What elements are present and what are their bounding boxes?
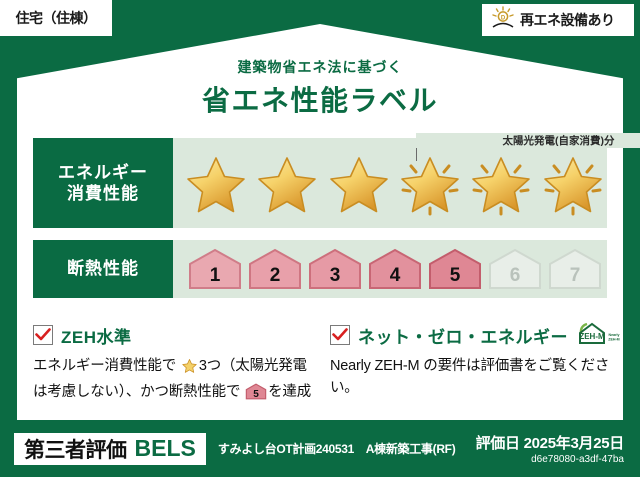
zeh-standard-block: ZEH水準 エネルギー消費性能で 3つ（太陽光発電は考慮しない）、かつ断熱性能で… — [33, 322, 318, 408]
bels-jp-label: 第三者評価 — [24, 434, 127, 464]
evaluation-date-value: 2025年3月25日 — [524, 435, 624, 452]
svg-text:D: D — [501, 15, 506, 21]
bels-en-label: BELS — [135, 435, 196, 462]
sun-renewable-icon: D — [490, 6, 516, 35]
energy-label-card: 住宅（住棟） D 再エネ設備あり 建築物省エネ法に基づく 省エネ性能ラベル — [0, 0, 640, 477]
zeh-body-part3: を達成 — [268, 384, 311, 400]
insulation-performance-row: 断熱性能 1 2 — [33, 240, 607, 298]
star-icon — [252, 148, 321, 218]
insulation-badges-area: 1 2 3 4 — [173, 240, 607, 298]
insulation-label-text: 断熱性能 — [67, 258, 139, 279]
checkbox-checked-icon — [33, 325, 53, 345]
insulation-performance-label: 断熱性能 — [33, 240, 173, 298]
zeh-body-part1: エネルギー消費性能で — [33, 358, 176, 374]
evaluation-date: 評価日 2025年3月25日 — [476, 432, 624, 453]
star-icon-solar — [395, 148, 464, 218]
star-icon — [181, 148, 250, 218]
insulation-badge-number: 7 — [570, 265, 581, 291]
insulation-badge-6: 6 — [487, 247, 543, 291]
insulation-badge-number: 2 — [270, 265, 281, 291]
energy-label-line1: エネルギー — [58, 162, 148, 183]
evaluation-date-block: 評価日 2025年3月25日 d6e78080-a3df-47ba — [476, 432, 624, 465]
insulation-badge-number: 3 — [330, 265, 341, 291]
svg-text:ZEH-M: ZEH-M — [608, 337, 619, 341]
energy-performance-row: エネルギー 消費性能 太陽光発電(自家消費)分 — [33, 138, 607, 228]
renewable-equipment-label: 再エネ設備あり — [520, 10, 615, 30]
housing-type-label: 住宅（住棟） — [16, 8, 97, 28]
checkbox-checked-icon — [330, 325, 350, 345]
energy-label-line2: 消費性能 — [67, 183, 139, 204]
insulation-badge-2: 2 — [247, 247, 303, 291]
insulation-badge-4: 4 — [367, 247, 423, 291]
zeh-m-logo-icon: ZEH-M Nearly ZEH-M — [576, 320, 624, 351]
insulation-badge-1: 1 — [187, 247, 243, 291]
renewable-equipment-tag: D 再エネ設備あり — [482, 4, 634, 36]
net-zero-energy-block: ネット・ゼロ・エネルギー ZEH-M Nearly ZEH-M Nearly Z… — [330, 322, 615, 400]
svg-text:ZEH-M: ZEH-M — [579, 332, 605, 341]
footer-bar: 第三者評価 BELS すみよし台OT計画240531 A棟新築工事(RF) 評価… — [0, 420, 640, 477]
bels-badge: 第三者評価 BELS — [14, 433, 206, 465]
net-zero-energy-header: ネット・ゼロ・エネルギー ZEH-M Nearly ZEH-M — [330, 322, 615, 348]
net-zero-energy-title: ネット・ゼロ・エネルギー — [358, 323, 568, 348]
svg-text:5: 5 — [253, 389, 259, 400]
zeh-standard-header: ZEH水準 — [33, 322, 318, 348]
net-zero-energy-body: Nearly ZEH-M の要件は評価書をご覧ください。 — [330, 355, 615, 400]
insulation-badge-number: 6 — [510, 265, 521, 291]
svg-text:Nearly: Nearly — [609, 333, 620, 337]
insulation-badge-3: 3 — [307, 247, 363, 291]
page-title: 省エネ性能ラベル — [0, 79, 640, 119]
insulation-badge-number: 1 — [210, 265, 221, 291]
inline-star-icon — [177, 362, 198, 378]
insulation-badge-5: 5 — [427, 247, 483, 291]
property-name: すみよし台OT計画240531 A棟新築工事(RF) — [218, 440, 456, 457]
energy-performance-label: エネルギー 消費性能 — [33, 138, 173, 228]
star-icon-solar — [466, 148, 535, 218]
star-rating — [173, 138, 607, 228]
label-id: d6e78080-a3df-47ba — [476, 454, 624, 465]
inline-insulation-badge-icon: 5 — [241, 388, 267, 404]
zeh-standard-title: ZEH水準 — [61, 323, 132, 348]
insulation-badge-number: 5 — [450, 265, 461, 291]
energy-stars-area: 太陽光発電(自家消費)分 — [173, 138, 607, 228]
insulation-level-scale: 1 2 3 4 — [173, 240, 607, 298]
star-icon-solar — [538, 148, 607, 218]
star-icon — [324, 148, 393, 218]
insulation-badge-number: 4 — [390, 265, 401, 291]
evaluation-date-label: 評価日 — [476, 435, 520, 452]
label-subtitle: 建築物省エネ法に基づく — [0, 57, 640, 77]
insulation-badge-7: 7 — [547, 247, 603, 291]
zeh-standard-body: エネルギー消費性能で 3つ（太陽光発電は考慮しない）、かつ断熱性能で 5 を達成 — [33, 355, 318, 408]
housing-type-tag: 住宅（住棟） — [0, 0, 112, 36]
